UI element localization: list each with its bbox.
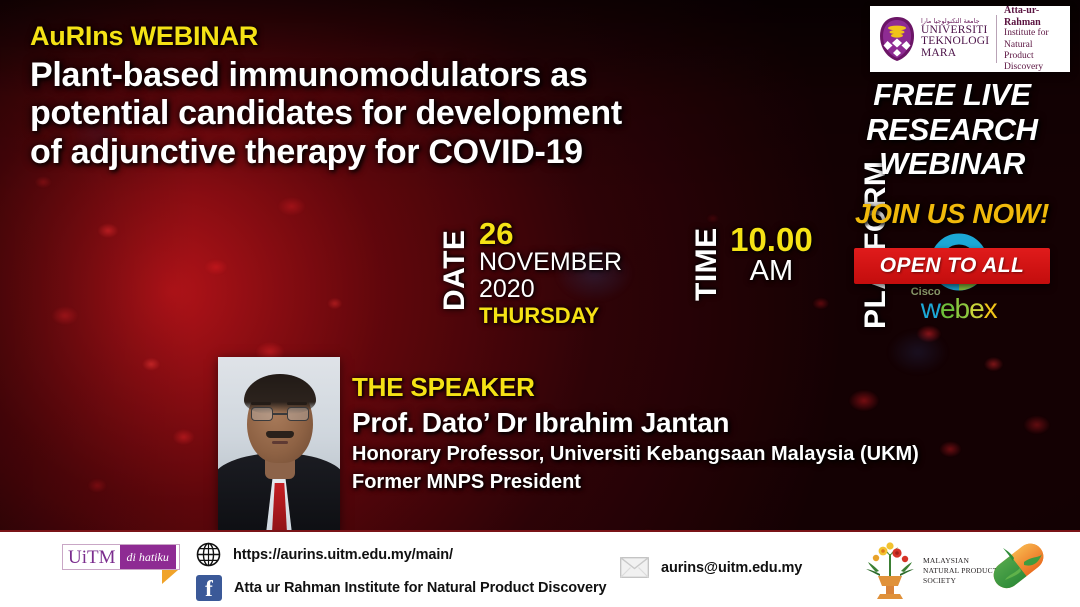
webex-letter-x: x: [984, 293, 997, 324]
promo-panel: FREE LIVE RESEARCH WEBINAR JOIN US NOW! …: [838, 78, 1066, 284]
footer-top-rule: [0, 530, 1080, 532]
speaker-glasses-icon: [251, 407, 309, 422]
date-values: 26 NOVEMBER 2020 THURSDAY: [479, 219, 622, 329]
promo-line-3: WEBINAR: [838, 147, 1066, 182]
website-row[interactable]: https://aurins.uitm.edu.my/main/: [196, 540, 606, 569]
email-row[interactable]: aurins@uitm.edu.my: [620, 557, 802, 578]
institute-line-3: Natural Product: [1004, 40, 1062, 62]
webinar-kicker: AuRIns WEBINAR: [30, 22, 750, 52]
open-to-all-button[interactable]: OPEN TO ALL: [854, 248, 1050, 284]
footer-links: https://aurins.uitm.edu.my/main/ f Atta …: [196, 540, 606, 602]
promo-line-2: RESEARCH: [838, 113, 1066, 148]
uitm-logo-tail: [162, 570, 178, 584]
webinar-poster: جامعة التكنولوجيا مارا UNIVERSITI TEKNOL…: [0, 0, 1080, 607]
speaker-moustache: [266, 431, 294, 438]
footer-bar: UiTM di hatiku https://aurins.uitm: [0, 530, 1080, 607]
globe-icon: [196, 542, 221, 567]
time-label: TIME: [690, 205, 724, 301]
headline-line-1: Plant-based immunomodulators as: [30, 56, 750, 94]
speaker-name: Prof. Dato’ Dr Ibrahim Jantan: [352, 407, 919, 439]
webex-letter-e1: e: [940, 293, 955, 324]
institute-name: Atta-ur-Rahman Institute for Natural Pro…: [1004, 5, 1062, 73]
date-month: NOVEMBER: [479, 249, 622, 276]
join-us-callout: JOIN US NOW!: [838, 198, 1066, 230]
institution-logo-card: جامعة التكنولوجيا مارا UNIVERSITI TEKNOL…: [870, 6, 1070, 72]
time-block: TIME 10.00 AM: [690, 205, 813, 301]
facebook-row[interactable]: f Atta ur Rahman Institute for Natural P…: [196, 573, 606, 602]
institute-line-4: Discovery: [1004, 62, 1062, 73]
speaker-mouth: [272, 441, 288, 444]
speaker-affiliation: Honorary Professor, Universiti Kebangsaa…: [352, 442, 919, 467]
speaker-portrait-photo: [218, 357, 340, 533]
speaker-details: THE SPEAKER Prof. Dato’ Dr Ibrahim Janta…: [352, 372, 919, 495]
date-block: DATE 26 NOVEMBER 2020 THURSDAY: [438, 205, 622, 329]
speaker-kicker: THE SPEAKER: [352, 372, 919, 403]
institute-line-2: Institute for: [1004, 28, 1062, 39]
headline-line-2: potential candidates for development: [30, 94, 750, 132]
date-weekday: THURSDAY: [479, 304, 622, 328]
logo-divider: [996, 15, 997, 63]
website-url[interactable]: https://aurins.uitm.edu.my/main/: [233, 547, 453, 563]
speaker-role: Former MNPS President: [352, 470, 919, 495]
facebook-icon: f: [196, 575, 222, 601]
speaker-brow-left: [251, 402, 271, 405]
page-title: Plant-based immunomodulators as potentia…: [30, 56, 750, 171]
date-day-number: 26: [479, 219, 622, 249]
webex-text: webex: [921, 293, 997, 324]
uitm-motto-text: di hatiku: [120, 545, 176, 569]
date-year: 2020: [479, 276, 622, 303]
webex-letter-b: b: [955, 293, 970, 324]
facebook-page-name[interactable]: Atta ur Rahman Institute for Natural Pro…: [234, 580, 606, 596]
malaysian-natural-products-society-logo: MALAYSIAN NATURAL PRODUCTS SOCIETY: [862, 542, 1002, 600]
webex-letter-e2: e: [969, 293, 984, 324]
time-meridiem: AM: [730, 256, 813, 288]
herbal-capsule-logo: [990, 540, 1052, 603]
uitm-line-3: MARA: [921, 48, 989, 60]
date-label: DATE: [438, 205, 472, 311]
email-address[interactable]: aurins@uitm.edu.my: [661, 560, 802, 576]
speaker-brow-right: [287, 402, 307, 405]
uitm-di-hatiku-logo: UiTM di hatiku: [62, 544, 180, 586]
envelope-icon: [620, 557, 649, 578]
time-values: 10.00 AM: [730, 223, 813, 288]
institute-line-1: Atta-ur-Rahman: [1004, 5, 1062, 29]
headline-line-3: of adjunctive therapy for COVID-19: [30, 133, 750, 171]
uitm-brand-text: UiTM: [63, 545, 120, 569]
webex-letter-w: w: [921, 293, 940, 324]
uitm-wordmark: جامعة التكنولوجيا مارا UNIVERSITI TEKNOL…: [921, 18, 989, 60]
time-value: 10.00: [730, 223, 813, 256]
open-to-all-label: OPEN TO ALL: [880, 254, 1024, 278]
title-block: AuRIns WEBINAR Plant-based immunomodulat…: [30, 22, 750, 171]
promo-line-1: FREE LIVE: [838, 78, 1066, 113]
uitm-crest-icon: [878, 16, 916, 62]
